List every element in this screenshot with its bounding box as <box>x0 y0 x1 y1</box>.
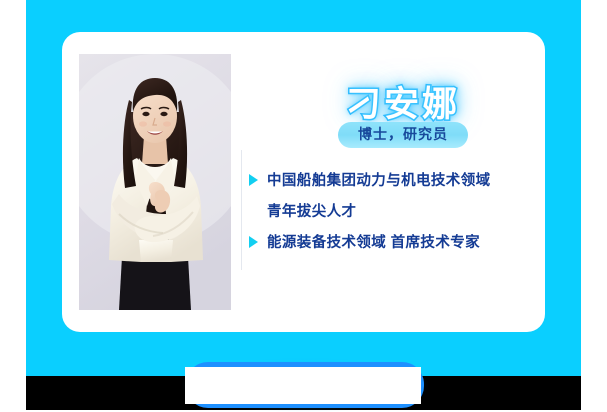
name-container: 刁安娜 <box>265 76 541 127</box>
bottom-white-mask <box>185 367 421 404</box>
list-item: 青年拔尖人才 <box>249 199 545 226</box>
badge-container: 博士，研究员 <box>265 122 541 148</box>
triangle-right-icon-placeholder <box>249 205 258 217</box>
triangle-right-icon <box>249 236 258 248</box>
page-title: 刁安娜 <box>346 76 460 127</box>
credential-text: 能源装备技术领域 首席技术专家 <box>267 230 480 257</box>
credential-text: 青年拔尖人才 <box>267 199 356 226</box>
list-item: 中国船舶集团动力与机电技术领域 <box>249 168 545 195</box>
credential-text: 中国船舶集团动力与机电技术领域 <box>267 168 491 195</box>
list-item: 能源装备技术领域 首席技术专家 <box>249 230 545 257</box>
portrait-photo <box>79 54 231 310</box>
slide-stage: 刁安娜 博士，研究员 中国船舶集团动力与机电技术领域 青年拔尖人才 能源装备技术… <box>0 0 607 410</box>
credential-list: 中国船舶集团动力与机电技术领域 青年拔尖人才 能源装备技术领域 首席技术专家 <box>249 168 545 261</box>
status-badge: 博士，研究员 <box>338 122 468 148</box>
triangle-right-icon <box>249 174 258 186</box>
profile-content: 刁安娜 博士，研究员 中国船舶集团动力与机电技术领域 青年拔尖人才 能源装备技术… <box>241 60 541 275</box>
